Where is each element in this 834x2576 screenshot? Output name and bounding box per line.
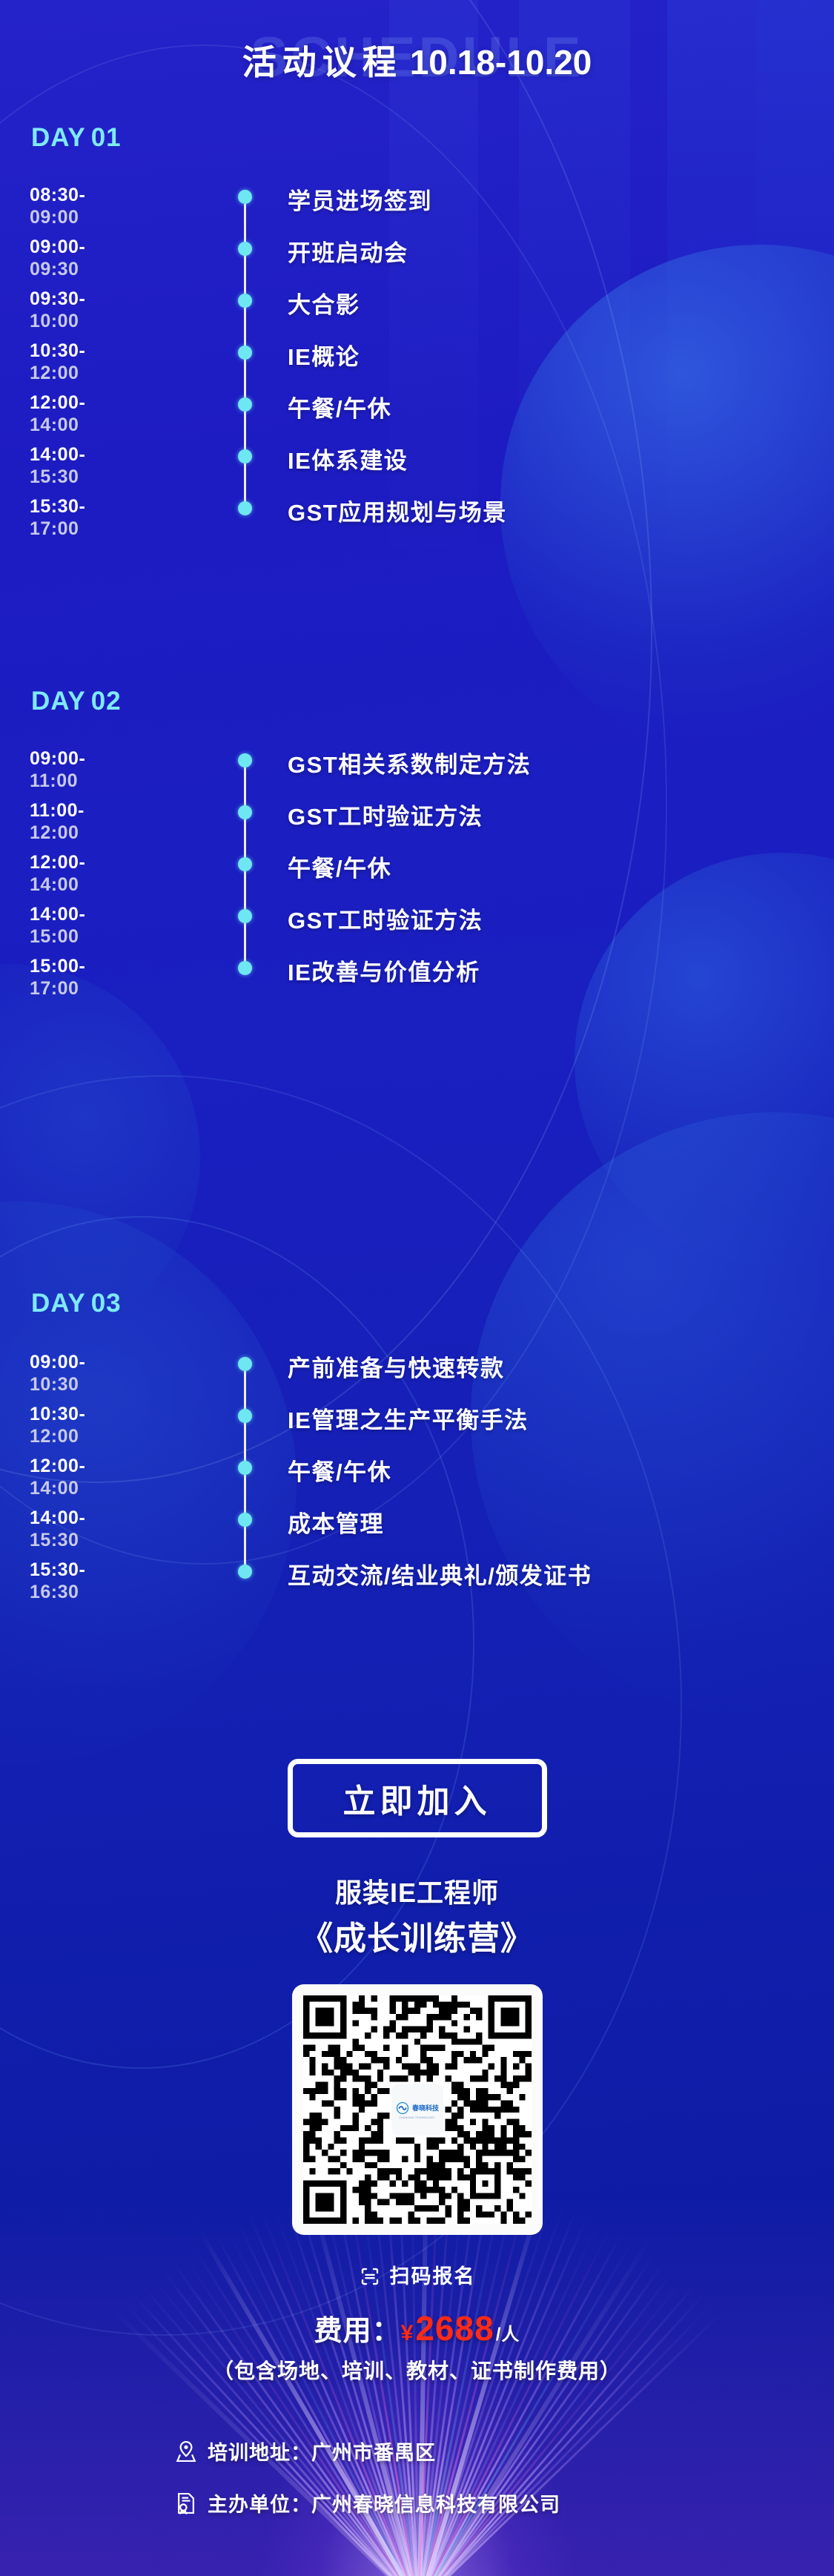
organizer-text: 主办单位：广州春晓信息科技有限公司 [208, 2489, 560, 2517]
page-title-zh: 活动议程 [242, 43, 403, 82]
schedule-time: 15:30-16:30 [30, 1559, 215, 1603]
schedule-time: 14:00-15:00 [30, 903, 215, 948]
qr-logo-row: 春晓科技 [395, 2101, 439, 2116]
time-start: 14:00- [30, 1507, 215, 1529]
schedule-topic: 大合影 [288, 286, 819, 320]
schedule-row[interactable]: 14:00-15:30成本管理 [0, 1507, 834, 1559]
time-end: 17:00 [30, 977, 215, 1000]
schedule-row[interactable]: 10:30-12:00IE管理之生产平衡手法 [0, 1403, 834, 1455]
schedule-topic: GST工时验证方法 [288, 902, 819, 935]
time-end: 09:30 [30, 258, 215, 280]
timeline-dot-icon [238, 190, 252, 204]
timeline-dot-icon [238, 857, 252, 871]
time-end: 17:00 [30, 518, 215, 540]
time-end: 12:00 [30, 362, 215, 384]
schedule-time: 11:00-12:00 [30, 799, 215, 844]
schedule-topic: 产前准备与快速转款 [288, 1350, 819, 1383]
price-unit: /人 [496, 2325, 520, 2345]
schedule-topic: IE概论 [288, 338, 819, 371]
schedule-row[interactable]: 08:30-09:00学员进场签到 [0, 184, 834, 236]
price-amount: 2688 [415, 2309, 494, 2348]
schedule-time: 09:00-09:30 [30, 236, 215, 280]
time-start: 10:30- [30, 1403, 215, 1425]
schedule-time: 12:00-14:00 [30, 851, 215, 896]
schedule-time: 14:00-15:30 [30, 443, 215, 488]
day-word: DAY [31, 1289, 86, 1318]
time-end: 14:00 [30, 414, 215, 436]
schedule-time: 09:00-10:30 [30, 1351, 215, 1396]
schedule-time: 14:00-15:30 [30, 1507, 215, 1551]
schedule-topic: 成本管理 [288, 1505, 819, 1539]
timeline-dot-icon [238, 397, 252, 412]
time-end: 10:30 [30, 1373, 215, 1396]
qr-logo-subtitle: CHUNXIAO TECHNOLOGY [399, 2116, 434, 2119]
day-word: DAY [31, 687, 86, 716]
schedule-time: 15:00-17:00 [30, 955, 215, 1000]
schedule-row[interactable]: 15:30-16:30互动交流/结业典礼/颁发证书 [0, 1559, 834, 1611]
day-label-03: DAY03 [31, 1289, 122, 1318]
scan-to-register: 扫码报名 [0, 2260, 834, 2293]
timeline-dot-icon [238, 1461, 252, 1475]
day-label-02: DAY02 [31, 687, 122, 716]
schedule-topic: IE管理之生产平衡手法 [288, 1401, 819, 1435]
time-start: 12:00- [30, 392, 215, 414]
time-end: 10:00 [30, 310, 215, 332]
poster-header: SCHEDULE 活动议程10.18-10.20 [0, 0, 834, 111]
time-end: 12:00 [30, 1425, 215, 1447]
timeline-dot-icon [238, 1565, 252, 1579]
time-end: 15:30 [30, 466, 215, 488]
time-start: 12:00- [30, 1455, 215, 1477]
schedule-time: 08:30-09:00 [30, 184, 215, 228]
time-end: 14:00 [30, 1477, 215, 1499]
schedule-row[interactable]: 09:00-10:30产前准备与快速转款 [0, 1351, 834, 1403]
schedule-topic: 午餐/午休 [288, 850, 819, 883]
time-end: 11:00 [30, 770, 215, 792]
schedule-topic: GST应用规划与场景 [288, 494, 819, 527]
schedule-row[interactable]: 14:00-15:00GST工时验证方法 [0, 903, 834, 955]
schedule-topic: 开班启动会 [288, 234, 819, 268]
schedule-topic: 互动交流/结业典礼/颁发证书 [288, 1557, 819, 1591]
timeline-dot-icon [238, 1409, 252, 1423]
schedule-row[interactable]: 15:00-17:00IE改善与价值分析 [0, 955, 834, 1007]
timeline-dot-icon [238, 1513, 252, 1527]
time-start: 14:00- [30, 903, 215, 925]
join-now-button[interactable]: 立即加入 [288, 1759, 547, 1837]
schedule-row[interactable]: 09:00-11:00GST相关系数制定方法 [0, 747, 834, 799]
schedule-row[interactable]: 12:00-14:00午餐/午休 [0, 392, 834, 443]
certificate-icon [175, 2491, 197, 2515]
timeline-dot-icon [238, 909, 252, 923]
time-end: 14:00 [30, 873, 215, 896]
timeline-dot-icon [238, 346, 252, 360]
schedule-topic: 午餐/午休 [288, 1453, 819, 1487]
page-title-dates: 10.18-10.20 [410, 43, 592, 82]
timeline-dot-icon [238, 805, 252, 819]
schedule-row[interactable]: 14:00-15:30IE体系建设 [0, 443, 834, 495]
time-end: 09:00 [30, 206, 215, 228]
qr-logo-name: 春晓科技 [412, 2103, 439, 2113]
schedule-topic: GST相关系数制定方法 [288, 746, 819, 779]
time-start: 09:30- [30, 288, 215, 310]
price-label: 费用： [314, 2316, 401, 2347]
schedule-row[interactable]: 12:00-14:00午餐/午休 [0, 851, 834, 903]
schedule-time: 09:30-10:00 [30, 288, 215, 332]
day-label-01: DAY01 [31, 123, 122, 153]
time-start: 15:00- [30, 955, 215, 977]
time-start: 12:00- [30, 851, 215, 873]
time-end: 15:00 [30, 925, 215, 948]
time-end: 15:30 [30, 1529, 215, 1551]
time-start: 08:30- [30, 184, 215, 206]
location-pin-icon [175, 2440, 197, 2463]
day-word: DAY [31, 123, 86, 152]
schedule-topic: IE改善与价值分析 [288, 954, 819, 987]
time-start: 15:30- [30, 1559, 215, 1581]
poster-content: SCHEDULE 活动议程10.18-10.20 DAY0108:30-09:0… [0, 0, 834, 2576]
schedule-topic: IE体系建设 [288, 442, 819, 475]
schedule-time: 10:30-12:00 [30, 340, 215, 384]
day-number: 03 [91, 1289, 122, 1318]
timeline-dot-icon [238, 501, 252, 515]
time-start: 09:00- [30, 236, 215, 258]
timeline-dot-icon [238, 961, 252, 975]
time-start: 09:00- [30, 747, 215, 770]
price-currency: ¥ [401, 2321, 414, 2345]
schedule-topic: 学员进场签到 [288, 182, 819, 216]
time-start: 15:30- [30, 495, 215, 518]
timeline-dot-icon [238, 294, 252, 308]
scan-code-icon [359, 2265, 381, 2293]
page-title: 活动议程10.18-10.20 [0, 36, 834, 85]
organizer: 主办单位：广州春晓信息科技有限公司 [175, 2489, 560, 2517]
time-start: 09:00- [30, 1351, 215, 1373]
schedule-row[interactable]: 12:00-14:00午餐/午休 [0, 1455, 834, 1507]
price-line: 费用：¥2688/人 [0, 2308, 834, 2348]
schedule-row[interactable]: 10:30-12:00IE概论 [0, 340, 834, 392]
time-start: 11:00- [30, 799, 215, 822]
time-start: 14:00- [30, 443, 215, 466]
scan-to-register-label: 扫码报名 [390, 2265, 476, 2288]
timeline-dot-icon [238, 1357, 252, 1371]
schedule-topic: GST工时验证方法 [288, 798, 819, 831]
day-number: 01 [91, 123, 122, 152]
schedule-row[interactable]: 15:30-17:00GST应用规划与场景 [0, 495, 834, 547]
day-number: 02 [91, 687, 122, 716]
schedule-topic: 午餐/午休 [288, 390, 819, 423]
camp-title-line2: 《成长训练营》 [0, 1912, 834, 1959]
timeline-dot-icon [238, 242, 252, 256]
schedule-time: 10:30-12:00 [30, 1403, 215, 1447]
qr-code[interactable]: 春晓科技 CHUNXIAO TECHNOLOGY [292, 1984, 543, 2235]
schedule-row[interactable]: 09:30-10:00大合影 [0, 288, 834, 340]
time-start: 10:30- [30, 340, 215, 362]
schedule-time: 15:30-17:00 [30, 495, 215, 540]
qr-code-canvas: 春晓科技 CHUNXIAO TECHNOLOGY [303, 1995, 532, 2224]
timeline-dot-icon [238, 449, 252, 463]
schedule-time: 09:00-11:00 [30, 747, 215, 792]
schedule-time: 12:00-14:00 [30, 392, 215, 436]
qr-center-logo: 春晓科技 CHUNXIAO TECHNOLOGY [391, 2084, 443, 2136]
training-address: 培训地址：广州市番禺区 [175, 2437, 436, 2466]
camp-title-line1: 服装IE工程师 [0, 1872, 834, 1910]
time-end: 12:00 [30, 822, 215, 844]
training-address-text: 培训地址：广州市番禺区 [208, 2437, 436, 2466]
chunxiao-mark-icon [395, 2101, 410, 2116]
price-includes: （包含场地、培训、教材、证书制作费用） [0, 2355, 834, 2385]
time-end: 16:30 [30, 1581, 215, 1603]
schedule-row[interactable]: 09:00-09:30开班启动会 [0, 236, 834, 288]
schedule-row[interactable]: 11:00-12:00GST工时验证方法 [0, 799, 834, 851]
timeline-dot-icon [238, 753, 252, 767]
schedule-time: 12:00-14:00 [30, 1455, 215, 1499]
